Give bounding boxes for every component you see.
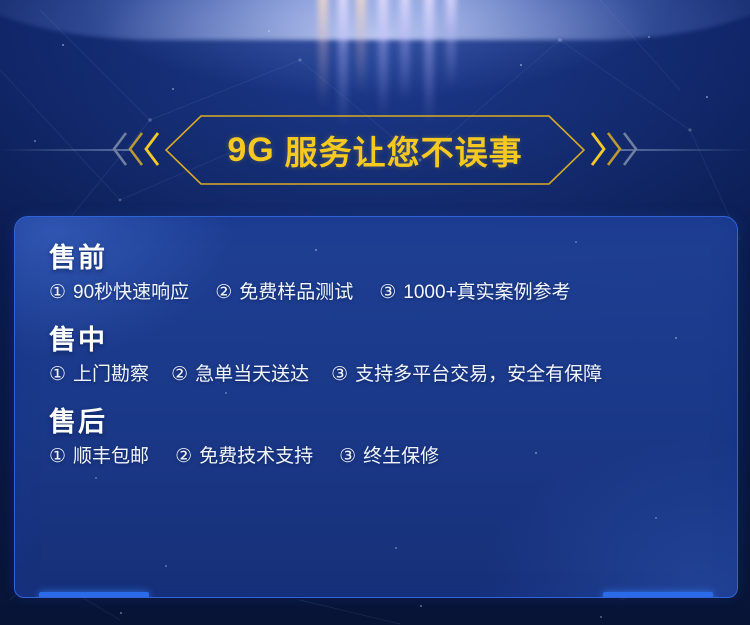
list-item: ③ 1000+真实案例参考 [379,282,570,305]
list-item: ① 90秒快速响应 [49,282,189,305]
item-number: ③ [331,364,348,387]
service-card: 售前 ① 90秒快速响应 ② 免费样品测试 ③ 1000+真实案例参考 [14,216,738,598]
title-banner: 9G 服务让您不误事 [0,105,750,195]
promo-banner-page: 9G 服务让您不误事 售前 ① [0,0,750,625]
banner-rail-left [0,149,130,151]
chevron-left-icon [128,131,144,167]
item-label: 免费样品测试 [239,282,353,305]
section-items: ① 上门勘察 ② 急单当天送达 ③ 支持多平台交易，安全有保障 [49,364,703,387]
chevron-left-icon [144,131,160,167]
item-label: 90秒快速响应 [73,282,189,305]
item-number: ③ [339,446,356,469]
section-in-sale: 售中 ① 上门勘察 ② 急单当天送达 ③ 支持多平台交易，安全有保障 [49,325,703,387]
list-item: ② 急单当天送达 [171,364,309,387]
title-hex-frame: 9G 服务让您不误事 [165,115,585,185]
item-label: 上门勘察 [73,364,149,387]
item-number: ① [49,282,66,305]
section-aftersale: 售后 ① 顺丰包邮 ② 免费技术支持 ③ 终生保修 [49,407,703,469]
item-label: 1000+真实案例参考 [403,282,570,305]
item-label: 免费技术支持 [199,446,313,469]
title-text: 服务让您不误事 [285,126,523,174]
chevron-right-icon [606,131,622,167]
list-item: ② 免费样品测试 [215,282,353,305]
item-number: ② [171,364,188,387]
section-items: ① 90秒快速响应 ② 免费样品测试 ③ 1000+真实案例参考 [49,282,703,305]
item-label: 终生保修 [363,446,439,469]
card-accent-tab-left [39,592,149,598]
item-label: 支持多平台交易，安全有保障 [355,364,602,387]
item-number: ① [49,364,66,387]
title-tag: 9G [227,131,274,170]
banner-rail-right [620,149,750,151]
list-item: ① 上门勘察 [49,364,149,387]
chevron-right-icon [622,131,638,167]
item-label: 顺丰包邮 [73,446,149,469]
list-item: ③ 终生保修 [339,446,439,469]
section-presale: 售前 ① 90秒快速响应 ② 免费样品测试 ③ 1000+真实案例参考 [49,243,703,305]
page-title: 9G 服务让您不误事 [165,115,585,185]
item-number: ③ [379,282,396,305]
chevron-left-icon [112,131,128,167]
list-item: ② 免费技术支持 [175,446,313,469]
chevron-right-icon [590,131,606,167]
section-items: ① 顺丰包邮 ② 免费技术支持 ③ 终生保修 [49,446,703,469]
section-title: 售中 [49,325,703,355]
item-number: ① [49,446,66,469]
card-accent-tab-right [603,592,713,598]
section-title: 售前 [49,243,703,273]
section-title: 售后 [49,407,703,437]
item-label: 急单当天送达 [195,364,309,387]
top-light-arc [0,0,750,40]
item-number: ② [215,282,232,305]
item-number: ② [175,446,192,469]
list-item: ③ 支持多平台交易，安全有保障 [331,364,602,387]
list-item: ① 顺丰包邮 [49,446,149,469]
